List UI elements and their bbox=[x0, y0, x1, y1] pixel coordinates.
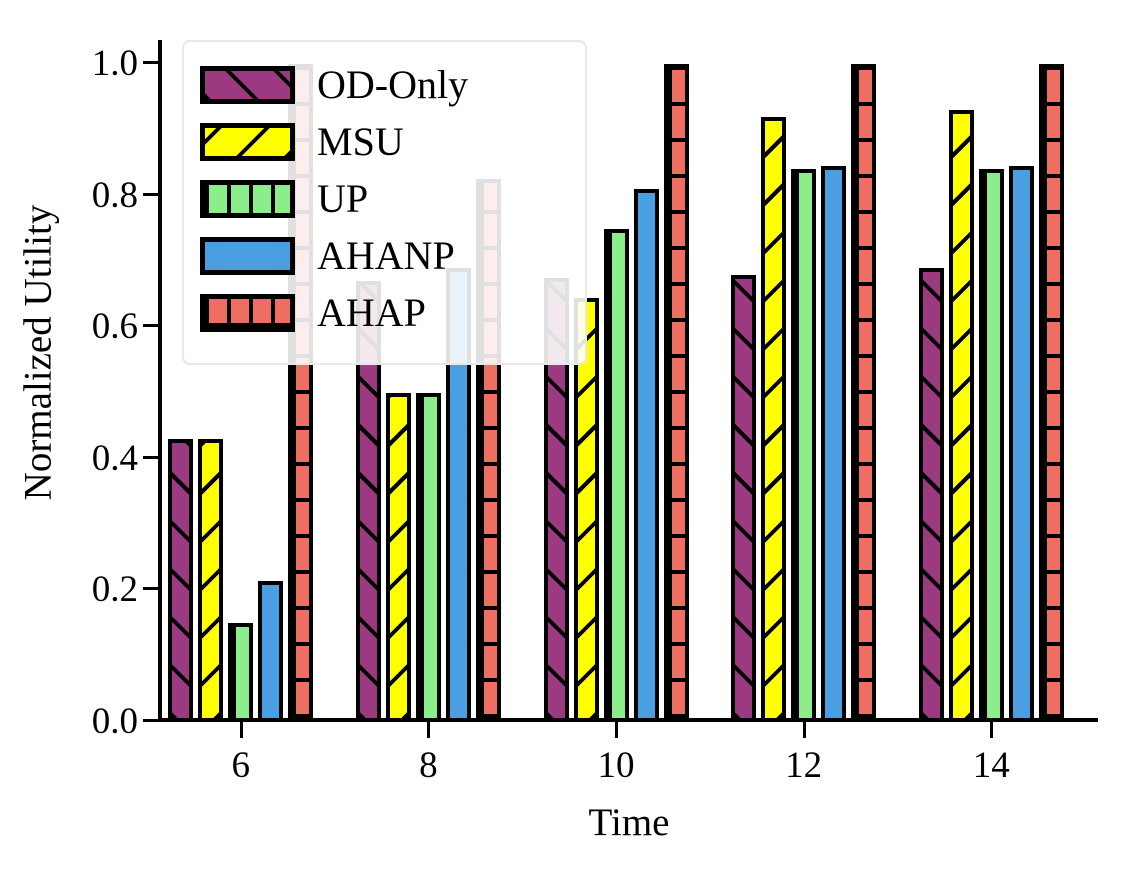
bar bbox=[258, 581, 283, 722]
bar bbox=[416, 393, 441, 722]
legend-swatch-ahanp bbox=[200, 237, 295, 275]
legend-item-ahanp[interactable]: AHANP bbox=[200, 227, 569, 284]
x-tick-mark bbox=[990, 722, 993, 738]
bar bbox=[228, 623, 253, 722]
bar bbox=[949, 110, 974, 722]
legend-label: MSU bbox=[317, 122, 404, 162]
legend: OD-OnlyMSUUPAHANPAHAP bbox=[182, 40, 587, 365]
bar bbox=[1039, 64, 1064, 722]
x-axis-label: Time bbox=[160, 800, 1098, 845]
bar bbox=[386, 393, 411, 722]
y-tick-label: 0.0 bbox=[0, 700, 138, 743]
legend-swatch-ahap bbox=[200, 294, 295, 332]
bar bbox=[731, 275, 756, 722]
bar bbox=[979, 169, 1004, 722]
bar bbox=[198, 439, 223, 722]
legend-label: AHANP bbox=[317, 236, 455, 276]
legend-item-msu[interactable]: MSU bbox=[200, 113, 569, 170]
x-tick-label: 6 bbox=[232, 744, 251, 787]
bar bbox=[604, 229, 629, 723]
legend-label: AHAP bbox=[317, 293, 426, 333]
legend-swatch-msu bbox=[200, 123, 295, 161]
chart-figure: 0.00.20.40.60.81.0 68101214 Normalized U… bbox=[0, 0, 1126, 874]
x-tick-label: 14 bbox=[973, 744, 1010, 787]
y-axis-label: Normalized Utility bbox=[16, 73, 61, 633]
bar bbox=[1009, 166, 1034, 722]
x-tick-mark bbox=[615, 722, 618, 738]
bar bbox=[919, 268, 944, 722]
bar bbox=[791, 169, 816, 722]
legend-swatch-up bbox=[200, 180, 295, 218]
legend-label: OD-Only bbox=[317, 65, 468, 105]
bar bbox=[664, 64, 689, 722]
legend-swatch-od-only bbox=[200, 66, 295, 104]
x-tick-label: 8 bbox=[419, 744, 438, 787]
x-tick-mark bbox=[427, 722, 430, 738]
x-tick-label: 10 bbox=[598, 744, 635, 787]
x-tick-mark bbox=[240, 722, 243, 738]
bar bbox=[634, 189, 659, 722]
x-tick-label: 12 bbox=[785, 744, 822, 787]
legend-item-up[interactable]: UP bbox=[200, 170, 569, 227]
bar bbox=[821, 166, 846, 722]
x-tick-mark bbox=[803, 722, 806, 738]
bar bbox=[851, 64, 876, 722]
legend-item-ahap[interactable]: AHAP bbox=[200, 284, 569, 341]
legend-item-od-only[interactable]: OD-Only bbox=[200, 56, 569, 113]
bar bbox=[168, 439, 193, 722]
bar bbox=[761, 117, 786, 722]
legend-label: UP bbox=[317, 179, 368, 219]
